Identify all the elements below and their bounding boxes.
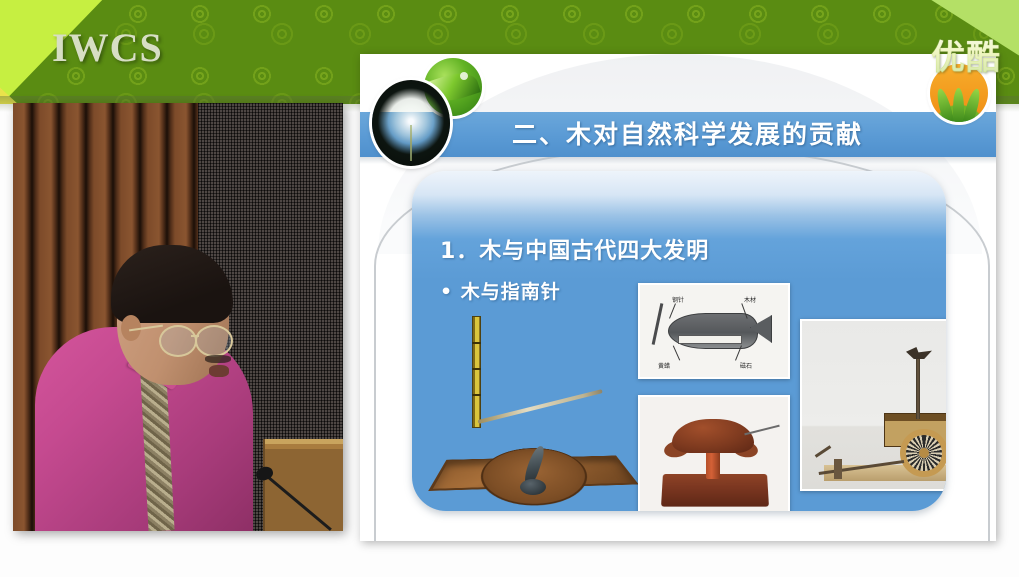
slide-title-banner-shadow	[360, 157, 996, 164]
content-bullet-1: • 木与指南针	[440, 277, 561, 304]
bamboo-stick	[472, 316, 481, 428]
content-heading-1: 1．木与中国古代四大发明	[440, 233, 709, 265]
label-yellow-wax: 黄蜡	[658, 361, 670, 370]
bamboo-node	[472, 394, 481, 396]
chariot-support-prop	[834, 459, 842, 479]
youku-watermark-text: 优酷	[931, 30, 1001, 79]
wooden-fish-compass-diagram: 钢针 木材 黄蜡 磁石	[638, 283, 790, 379]
leader-line	[669, 303, 676, 318]
leader-line	[673, 345, 680, 360]
slide-title: 二、木对自然科学发展的贡献	[512, 116, 932, 154]
presenter-video-panel[interactable]	[13, 103, 343, 531]
speaker-mustache	[205, 355, 231, 363]
iwcs-wordmark-logo: IWCS	[52, 24, 163, 71]
magnetic-needle	[478, 389, 603, 424]
lodestone-spoon-bowl	[520, 479, 546, 495]
yellow-wax-layer	[678, 335, 742, 344]
presentation-slide[interactable]: 二、木对自然科学发展的贡献 1．木与中国古代四大发明 • 木与指南针	[360, 54, 996, 541]
wooden-turtle-compass-figure	[638, 395, 790, 511]
eyeglasses-bridge	[191, 335, 199, 337]
bamboo-node	[472, 368, 481, 370]
label-wood: 木材	[744, 295, 756, 304]
chariot-pointing-figure	[906, 347, 932, 359]
turtle-shell	[672, 419, 754, 453]
label-lodestone: 磁石	[740, 361, 752, 370]
turtle-pointer-needle	[744, 425, 779, 436]
badge-leaf-blade	[953, 88, 964, 122]
si-nan-spoon-compass-figure	[440, 429, 640, 509]
south-pointing-chariot-figure	[800, 319, 946, 491]
chariot-wheel	[900, 429, 946, 477]
bamboo-needle-compass-figure	[450, 316, 618, 441]
screenshot-root: IWCS 优酷 二、木对自然科学发展的贡献	[0, 0, 1019, 577]
steel-needle	[652, 303, 664, 345]
label-steel-needle: 钢针	[672, 295, 684, 304]
eyeglasses-left-lens	[159, 325, 197, 357]
bamboo-node	[472, 342, 481, 344]
slide-content-box: 1．木与中国古代四大发明 • 木与指南针	[412, 171, 946, 511]
speaker-mouth	[209, 365, 229, 377]
dandelion-photo-circle	[372, 80, 450, 166]
eyeglasses-right-lens	[195, 325, 233, 357]
chariot-draft-shaft-tip	[815, 445, 832, 458]
chariot-mast	[916, 353, 920, 419]
